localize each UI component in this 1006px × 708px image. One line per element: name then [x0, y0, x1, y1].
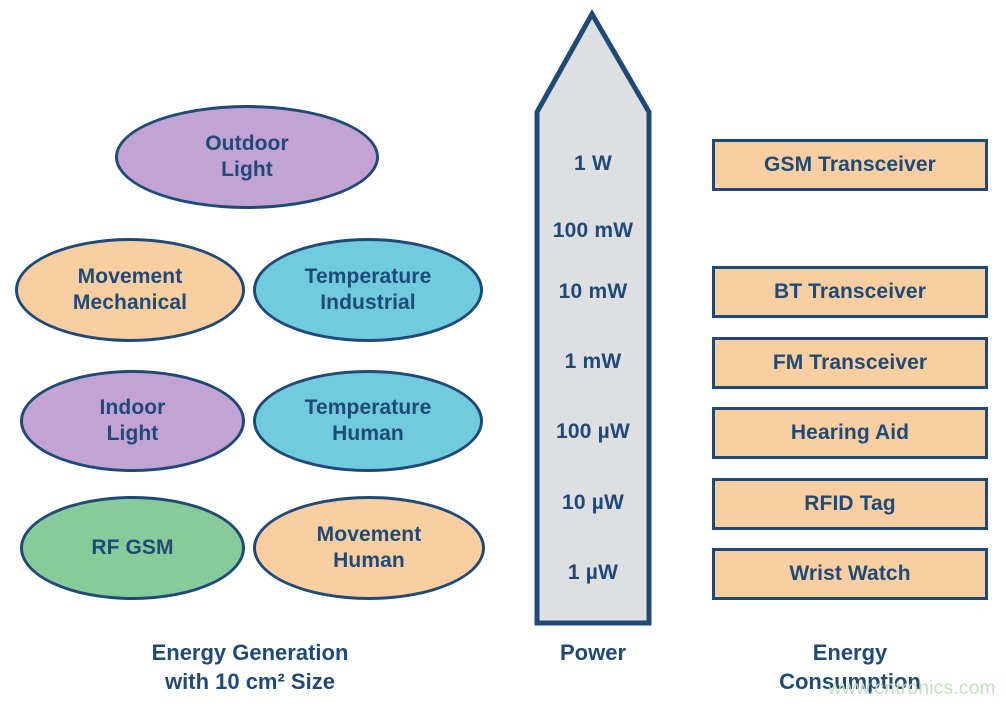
- energy-source-label-line2: Human: [305, 421, 432, 447]
- power-level-10uw: 10 µW: [528, 491, 658, 515]
- caption-line1: Energy Generation: [40, 639, 460, 668]
- consumer-label: GSM Transceiver: [764, 153, 936, 177]
- energy-source-movement-mechanical: Movement Mechanical: [15, 238, 245, 342]
- consumer-label: Hearing Aid: [791, 421, 909, 445]
- caption-line2: with 10 cm² Size: [40, 668, 460, 697]
- energy-source-label-line2: Light: [205, 157, 289, 183]
- energy-source-label-line2: Industrial: [305, 290, 432, 316]
- consumer-rfid-tag: RFID Tag: [712, 478, 988, 530]
- energy-source-temperature-human: Temperature Human: [253, 370, 483, 472]
- energy-source-label-line2: Light: [100, 421, 166, 447]
- energy-source-label-line1: Temperature: [305, 264, 432, 290]
- consumer-fm-transceiver: FM Transceiver: [712, 337, 988, 389]
- consumer-label: FM Transceiver: [773, 351, 927, 375]
- caption-energy-generation: Energy Generation with 10 cm² Size: [40, 639, 460, 696]
- consumer-label: BT Transceiver: [774, 280, 926, 304]
- energy-source-label-line1: Movement: [317, 522, 422, 548]
- watermark-text: www.cntronics.com: [828, 678, 996, 700]
- power-level-100uw: 100 µW: [528, 420, 658, 444]
- energy-source-label-line2: Mechanical: [73, 290, 187, 316]
- consumer-wrist-watch: Wrist Watch: [712, 548, 988, 600]
- energy-source-movement-human: Movement Human: [253, 496, 485, 600]
- energy-source-temperature-industrial: Temperature Industrial: [253, 238, 483, 342]
- energy-source-indoor-light: Indoor Light: [20, 370, 245, 472]
- consumer-label: RFID Tag: [804, 492, 895, 516]
- energy-source-outdoor-light: Outdoor Light: [115, 105, 379, 209]
- power-level-10mw: 10 mW: [528, 280, 658, 304]
- caption-line1: Power: [528, 639, 658, 668]
- caption-power: Power: [528, 639, 658, 668]
- energy-source-label-line1: Movement: [73, 264, 187, 290]
- energy-harvesting-diagram: Outdoor Light Movement Mechanical Temper…: [0, 0, 1006, 708]
- power-level-1w: 1 W: [528, 152, 658, 176]
- consumer-bt-transceiver: BT Transceiver: [712, 266, 988, 318]
- energy-source-label-line1: Outdoor: [205, 131, 289, 157]
- power-level-1uw: 1 µW: [528, 561, 658, 585]
- energy-source-label-line1: Temperature: [305, 395, 432, 421]
- energy-source-label-line2: Human: [317, 548, 422, 574]
- energy-source-label-line1: RF GSM: [91, 535, 173, 561]
- energy-source-label-line1: Indoor: [100, 395, 166, 421]
- energy-source-rf-gsm: RF GSM: [20, 496, 245, 600]
- consumer-label: Wrist Watch: [789, 562, 910, 586]
- power-level-1mw: 1 mW: [528, 350, 658, 374]
- consumer-hearing-aid: Hearing Aid: [712, 407, 988, 459]
- power-scale-arrow: [528, 8, 658, 628]
- caption-line1: Energy: [712, 639, 988, 668]
- power-level-100mw: 100 mW: [528, 219, 658, 243]
- consumer-gsm-transceiver: GSM Transceiver: [712, 139, 988, 191]
